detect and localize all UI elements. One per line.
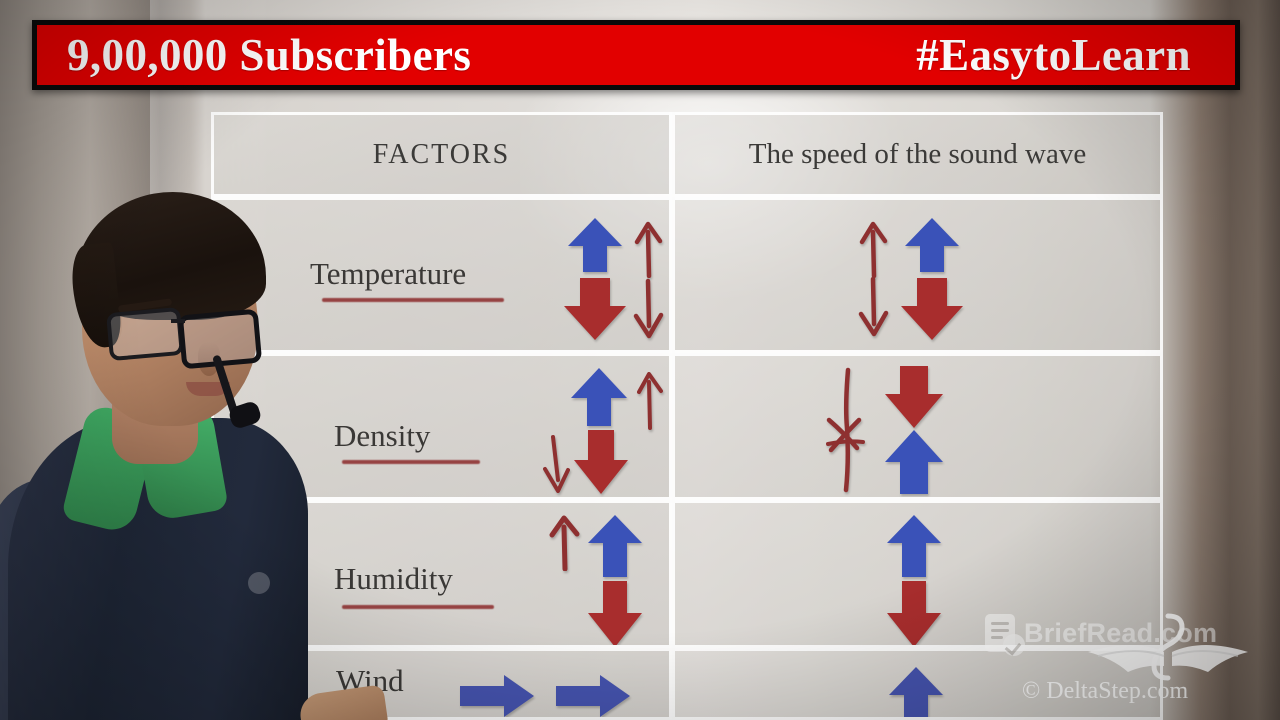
factor-label-humidity: Humidity bbox=[334, 561, 453, 597]
glasses-bridge bbox=[171, 319, 185, 323]
subscriber-banner: 9,00,000 Subscribers #EasytoLearn bbox=[32, 20, 1240, 90]
block-arrow-up-icon bbox=[883, 428, 945, 496]
block-arrow-up-icon bbox=[885, 513, 943, 579]
deltastep-label: © DeltaStep.com bbox=[1022, 678, 1188, 705]
label-underline bbox=[342, 605, 494, 609]
factor-label-temperature: Temperature bbox=[310, 256, 466, 292]
hand-arrow-up-icon bbox=[632, 216, 666, 278]
header-cell-speed: The speed of the sound wave bbox=[672, 112, 1163, 197]
header-label-speed: The speed of the sound wave bbox=[675, 138, 1160, 171]
speed-cell-temperature bbox=[672, 197, 1163, 353]
label-underline bbox=[322, 298, 504, 302]
table-header-row: FACTORS The speed of the sound wave bbox=[211, 112, 1163, 197]
block-arrow-down-icon bbox=[883, 364, 945, 430]
checkmark-icon bbox=[1003, 634, 1025, 656]
factor-label-density: Density bbox=[334, 418, 430, 454]
glasses-lens-left bbox=[106, 307, 184, 361]
table-row: Temperature bbox=[211, 197, 1163, 353]
document-icon bbox=[985, 614, 1015, 652]
label-underline bbox=[342, 460, 480, 464]
hand-arrow-up-icon bbox=[857, 216, 891, 278]
hand-arrow-scribble-icon bbox=[823, 366, 875, 494]
block-arrow-down-icon bbox=[562, 276, 628, 342]
block-arrow-down-icon bbox=[586, 579, 644, 648]
block-arrow-up-icon bbox=[903, 216, 961, 274]
block-arrow-up-icon bbox=[887, 665, 945, 720]
table-row: Density bbox=[211, 353, 1163, 500]
block-arrow-up-icon bbox=[586, 513, 644, 579]
hand-arrow-down-icon bbox=[855, 276, 891, 340]
deltastep-watermark: © DeltaStep.com bbox=[1022, 678, 1188, 705]
block-arrow-down-icon bbox=[572, 428, 630, 496]
speed-cell-density bbox=[672, 353, 1163, 500]
block-arrow-right-icon bbox=[458, 673, 536, 719]
block-arrow-right-icon bbox=[554, 673, 632, 719]
hand-arrow-down-icon bbox=[540, 434, 574, 496]
banner-hashtag: #EasytoLearn bbox=[916, 33, 1209, 78]
header-label-factors: FACTORS bbox=[214, 139, 669, 171]
shirt-logo bbox=[248, 572, 270, 594]
block-arrow-up-icon bbox=[569, 366, 629, 428]
hand-arrow-up-icon bbox=[634, 368, 666, 430]
block-arrow-down-icon bbox=[899, 276, 965, 342]
banner-subscriber-count: 9,00,000 Subscribers bbox=[67, 33, 471, 78]
video-frame: FACTORS The speed of the sound wave Temp… bbox=[0, 0, 1280, 720]
presenter bbox=[0, 186, 320, 720]
hand-arrow-down-icon bbox=[630, 278, 666, 342]
header-cell-factors: FACTORS bbox=[211, 112, 672, 197]
block-arrow-up-icon bbox=[566, 216, 624, 274]
block-arrow-down-icon bbox=[885, 579, 943, 648]
hand-arrow-up-icon bbox=[548, 513, 582, 571]
